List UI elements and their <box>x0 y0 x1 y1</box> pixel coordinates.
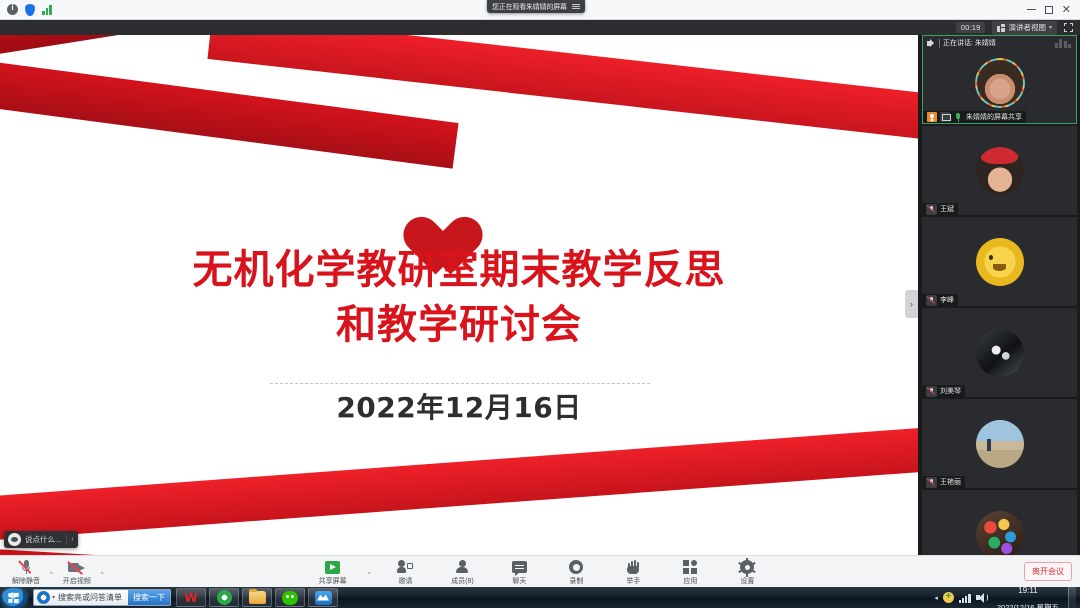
control-bar-center: 共享屏幕 ^ 邀请 成员(8) 聊天 录制 举手 <box>0 557 1080 586</box>
avatar <box>975 58 1025 108</box>
maximize-icon[interactable] <box>1045 6 1053 14</box>
shield-icon[interactable] <box>25 4 35 16</box>
meeting-timer: 00:19 <box>956 22 986 33</box>
share-screen-label: 共享屏幕 <box>319 576 347 586</box>
record-button[interactable]: 录制 <box>554 557 598 586</box>
file-explorer-icon[interactable] <box>242 588 272 607</box>
slide-date: 2022年12月16日 <box>0 386 918 426</box>
raise-hand-icon <box>627 559 639 575</box>
host-badge-icon <box>927 112 937 122</box>
info-icon[interactable] <box>7 4 18 15</box>
mic-active-icon <box>953 112 963 122</box>
clock-date: 2022/12/16 星期五 <box>997 603 1059 608</box>
view-mode-selector[interactable]: 演讲者视图 ▾ <box>992 21 1057 35</box>
chat-icon <box>512 559 527 575</box>
raise-hand-label: 举手 <box>626 576 640 586</box>
invite-icon <box>397 559 413 575</box>
ie-icon <box>37 591 50 604</box>
avatar <box>976 147 1024 195</box>
participant-name: 朱婧婧的屏幕共享 <box>966 112 1022 122</box>
divider <box>939 39 940 48</box>
active-speaker-header: 正在讲话: 朱婧婧 <box>923 36 1076 50</box>
clock-time: 19:11 <box>1018 586 1037 595</box>
system-tray: ◂ 19:11 2022/12/16 星期五 <box>934 581 1080 608</box>
share-options-caret[interactable]: ^ <box>368 572 371 586</box>
show-desktop-button[interactable] <box>1068 587 1076 608</box>
mic-muted-icon <box>926 477 937 488</box>
signal-bars-icon <box>42 4 54 15</box>
search-button[interactable]: 搜索一下 <box>128 589 170 606</box>
participant-name: 刘美琴 <box>940 386 961 396</box>
menu-icon[interactable] <box>572 3 580 10</box>
tile-footer: 朱婧婧的屏幕共享 <box>923 111 1026 123</box>
tile-footer: 刘美琴 <box>922 385 965 397</box>
settings-button[interactable]: 设置 <box>725 557 769 586</box>
slide-title-line-1: 无机化学教研室期末教学反思 <box>0 243 918 298</box>
chat-label: 聊天 <box>512 576 526 586</box>
share-screen-button[interactable]: 共享屏幕 <box>311 557 355 586</box>
avatar-icon <box>8 533 21 546</box>
browser-status-icons <box>0 4 54 16</box>
participant-name: 王艳丽 <box>940 477 961 487</box>
invite-button[interactable]: 邀请 <box>383 557 427 586</box>
tile-footer: 李峰 <box>922 294 958 306</box>
meeting-top-bar: 00:19 演讲者视图 ▾ <box>0 20 1080 35</box>
participant-tile[interactable]: 王艳丽 <box>922 399 1077 488</box>
security-icon[interactable] <box>943 592 954 603</box>
windows-taskbar: ▾ 搜索亮或问答清单 搜索一下 W ◂ 19:11 2022/12/16 星期五 <box>0 587 1080 608</box>
settings-icon <box>740 559 754 575</box>
chat-button[interactable]: 聊天 <box>497 557 541 586</box>
speaker-view-icon <box>997 24 1005 32</box>
raise-hand-button[interactable]: 举手 <box>611 557 655 586</box>
taskbar-search-box[interactable]: ▾ 搜索亮或问答清单 搜索一下 <box>33 589 171 606</box>
participant-name: 李峰 <box>940 295 954 305</box>
mini-chat-widget[interactable]: 说点什么... ‹ <box>4 531 78 548</box>
blue-app-icon[interactable] <box>308 588 338 607</box>
participant-tile[interactable]: ⌄ <box>922 490 1077 555</box>
record-label: 录制 <box>569 576 583 586</box>
tile-footer: 王斌 <box>922 203 958 215</box>
mic-muted-icon <box>926 295 937 306</box>
avatar <box>976 238 1024 286</box>
network-icon[interactable] <box>959 593 971 603</box>
tile-footer: 王艳丽 <box>922 476 965 488</box>
sidebar-collapse-handle[interactable]: › <box>905 290 918 318</box>
settings-label: 设置 <box>740 576 754 586</box>
participant-tile[interactable]: 刘美琴 <box>922 308 1077 397</box>
fullscreen-icon[interactable] <box>1064 23 1073 32</box>
invite-label: 邀请 <box>398 576 412 586</box>
taskbar-app-buttons: W <box>176 588 338 607</box>
apps-button[interactable]: 应用 <box>668 557 712 586</box>
mic-muted-icon <box>926 204 937 215</box>
screen-share-tooltip: 您正在观看朱婧婧的屏幕 <box>487 0 585 13</box>
decorative-ribbon <box>0 547 918 555</box>
windows-start-icon[interactable] <box>1 588 27 608</box>
meeting-top-bar-right: 00:19 演讲者视图 ▾ <box>956 21 1080 35</box>
divider <box>270 383 650 384</box>
taskbar-clock[interactable]: 19:11 2022/12/16 星期五 <box>993 581 1063 608</box>
decorative-ribbon <box>0 425 918 544</box>
close-icon[interactable]: ✕ <box>1062 3 1071 16</box>
slide-title-line-2: 和教学研讨会 <box>0 298 918 353</box>
tray-expand-icon[interactable]: ◂ <box>934 594 938 602</box>
screen-share-icon <box>940 112 950 122</box>
speaking-label: 正在讲话: 朱婧婧 <box>943 38 996 48</box>
participants-icon <box>455 559 469 575</box>
screen-root: ✕ 您正在观看朱婧婧的屏幕 00:19 演讲者视图 ▾ 无机化学教研室期末教学反… <box>0 0 1080 608</box>
participant-name: 王斌 <box>940 204 954 214</box>
active-speaker-tile[interactable]: 正在讲话: 朱婧婧 朱婧婧的屏幕共享 <box>922 35 1077 124</box>
avatar <box>976 511 1024 556</box>
avatar <box>976 329 1024 377</box>
mini-chat-input[interactable]: 说点什么... <box>25 534 66 545</box>
apps-icon <box>683 559 697 575</box>
360-browser-icon[interactable] <box>209 588 239 607</box>
participant-tile[interactable]: 王斌 <box>922 126 1077 215</box>
participant-sidebar[interactable]: 正在讲话: 朱婧婧 朱婧婧的屏幕共享 王斌 李峰 <box>918 35 1080 555</box>
wechat-icon[interactable] <box>275 588 305 607</box>
search-input[interactable]: 搜索亮或问答清单 <box>58 592 128 603</box>
volume-icon[interactable] <box>976 592 988 603</box>
mic-muted-icon <box>926 386 937 397</box>
chevron-left-icon[interactable]: ‹ <box>67 536 77 543</box>
minimize-icon[interactable] <box>1027 9 1036 10</box>
meeting-control-bar: 解除静音 ^ 开启视频 ^ 共享屏幕 ^ 邀请 成员( <box>0 555 1080 587</box>
leave-meeting-button[interactable]: 离开会议 <box>1024 562 1072 581</box>
chevron-down-icon: ▾ <box>1049 24 1052 31</box>
window-controls: ✕ <box>1027 3 1080 16</box>
waveform-icon <box>1055 38 1072 48</box>
screen-share-tooltip-text: 您正在观看朱婧婧的屏幕 <box>492 2 567 12</box>
view-mode-label: 演讲者视图 <box>1008 22 1046 33</box>
participants-button[interactable]: 成员(8) <box>440 557 484 586</box>
participants-label: 成员(8) <box>451 576 474 586</box>
share-screen-icon <box>325 559 340 575</box>
apps-label: 应用 <box>683 576 697 586</box>
record-icon <box>569 559 583 575</box>
speaker-icon <box>927 39 936 48</box>
avatar <box>976 420 1024 468</box>
page-title: 无机化学教研室期末教学反思 和教学研讨会 <box>0 243 918 353</box>
wps-icon[interactable]: W <box>176 588 206 607</box>
participant-tile[interactable]: 李峰 <box>922 217 1077 306</box>
shared-screen-stage: 无机化学教研室期末教学反思 和教学研讨会 2022年12月16日 说点什么...… <box>0 35 918 555</box>
